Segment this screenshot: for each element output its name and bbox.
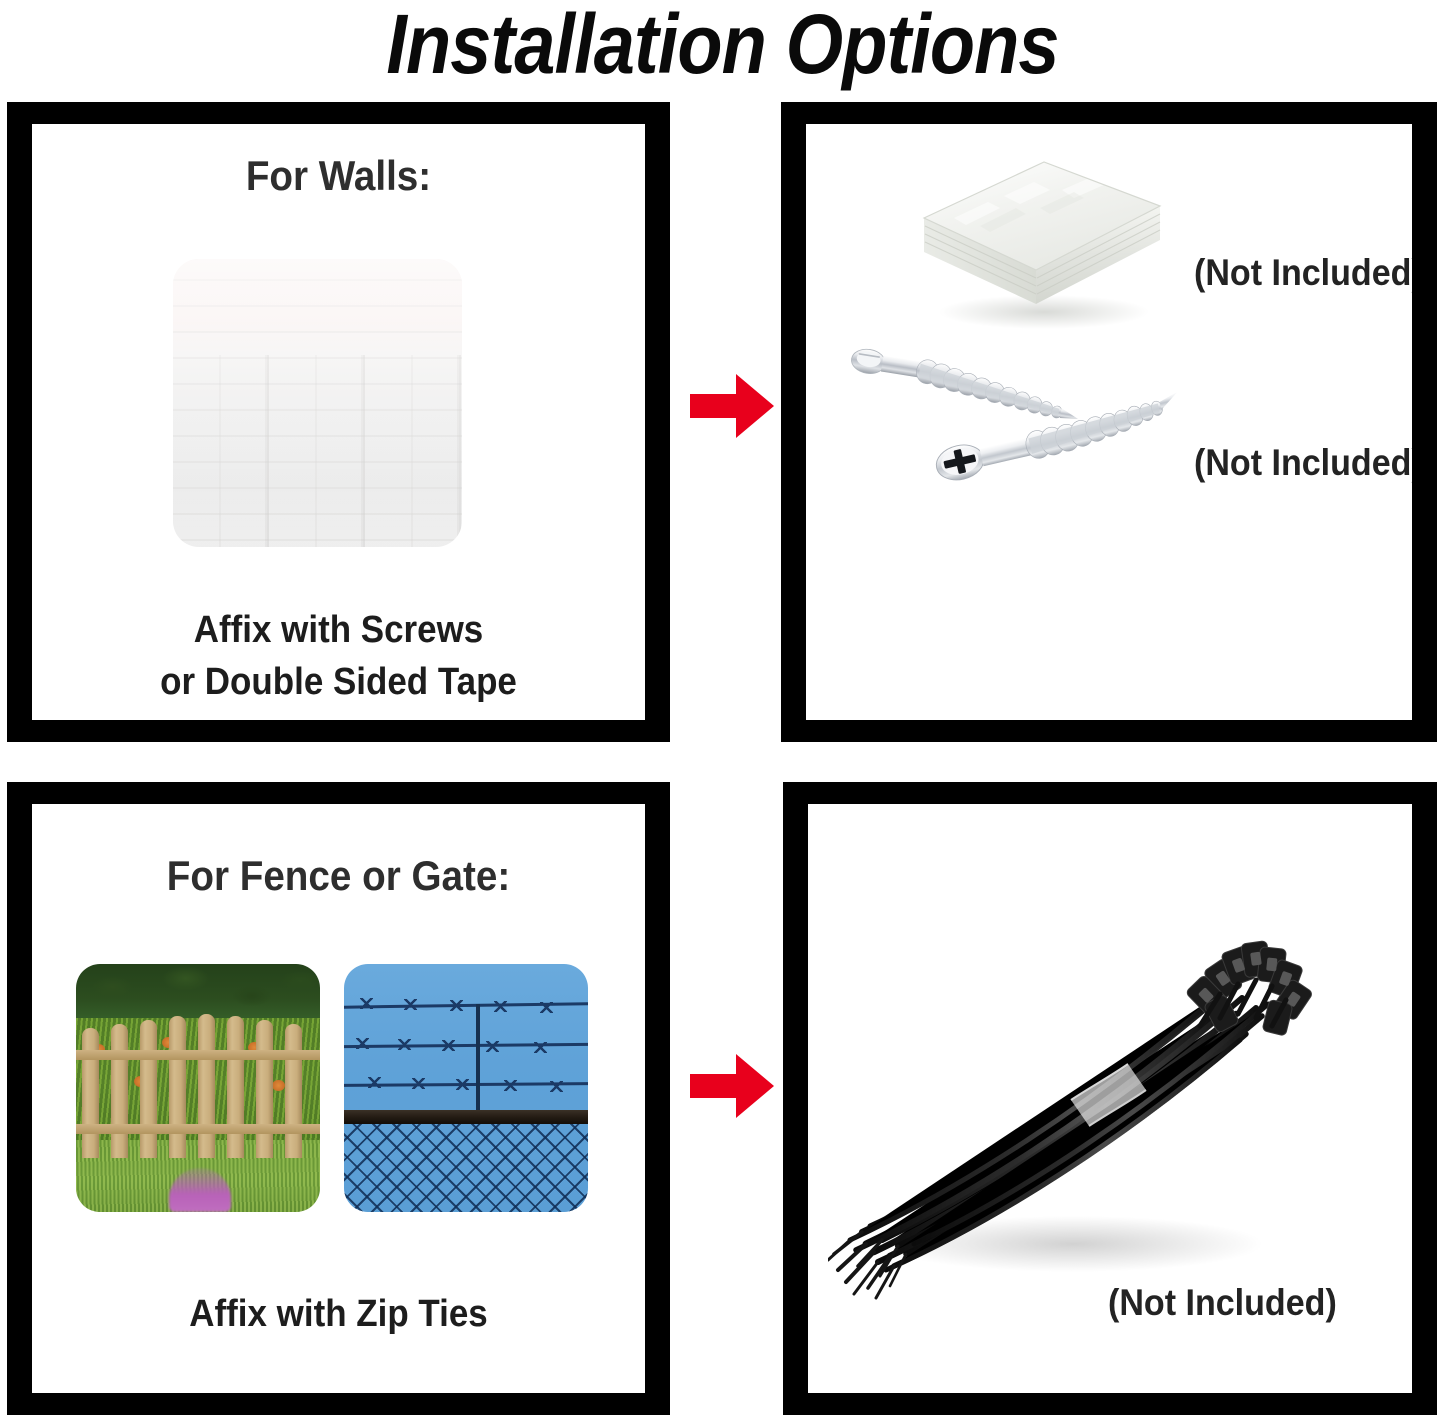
top-rail <box>344 1110 588 1124</box>
double-sided-tape-pack <box>884 146 1184 336</box>
fence-post <box>476 1004 480 1116</box>
zipties-not-included-label: (Not Included) <box>1108 1282 1337 1324</box>
for-walls-caption-line-1: Affix with Screws <box>57 604 621 656</box>
panel-zip-ties-content: (Not Included) <box>808 804 1412 1393</box>
picket-fence <box>76 1006 320 1158</box>
page-title: Installation Options <box>87 0 1359 92</box>
panel-wall-hardware-content: (Not Included) <box>806 124 1412 720</box>
whitewash-overlay <box>173 259 462 547</box>
black-zip-ties-bundle <box>828 914 1318 1314</box>
panel-zip-ties: (Not Included) <box>783 782 1437 1415</box>
red-right-arrow-icon <box>688 370 776 442</box>
panel-wall-hardware: (Not Included) <box>781 102 1437 742</box>
panel-for-fence-content: For Fence or Gate: <box>32 804 645 1393</box>
for-walls-caption-line-2: or Double Sided Tape <box>57 656 621 708</box>
screws-not-included-label: (Not Included) <box>1194 442 1412 484</box>
panel-for-walls: For Walls: Affix with Screws or Double S… <box>7 102 670 742</box>
for-walls-heading: For Walls: <box>57 152 621 200</box>
for-fence-or-gate-heading: For Fence or Gate: <box>57 852 621 900</box>
white-brick-wall-swatch <box>173 259 462 547</box>
red-right-arrow-icon <box>688 1050 776 1122</box>
tape-not-included-label: (Not Included) <box>1194 252 1412 294</box>
panel-for-fence-or-gate: For Fence or Gate: <box>7 782 670 1415</box>
chain-link-barbed-wire-fence-photo <box>344 964 588 1212</box>
panel-for-walls-content: For Walls: Affix with Screws or Double S… <box>32 124 645 720</box>
wooden-picket-fence-photo <box>76 964 320 1212</box>
silver-screws-pair <box>832 336 1202 516</box>
for-fence-caption: Affix with Zip Ties <box>57 1288 621 1340</box>
chain-link-mesh <box>344 1124 588 1212</box>
